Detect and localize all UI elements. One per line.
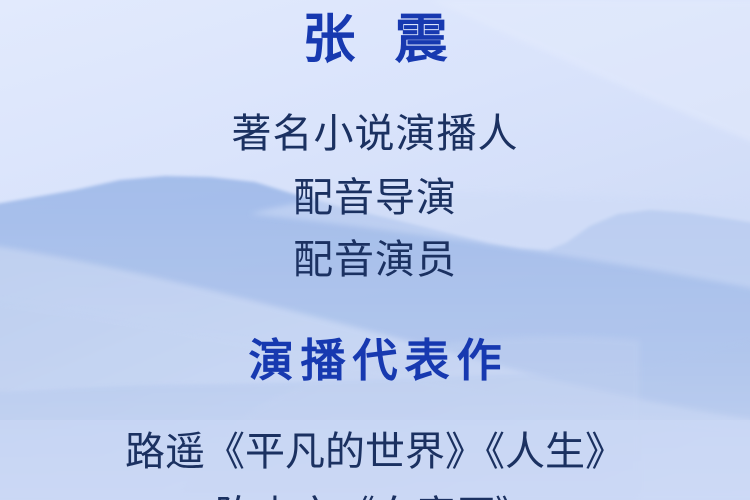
work-line-1: 路遥《平凡的世界》《人生》 [0, 428, 750, 476]
section-heading-representative-works: 演播代表作 [0, 333, 750, 389]
role-line-2: 配音导演 [0, 174, 750, 222]
role-line-1: 著名小说演播人 [0, 110, 750, 158]
text-content: 张 震 著名小说演播人 配音导演 配音演员 演播代表作 路遥《平凡的世界》《人生… [0, 0, 750, 500]
page-title: 张 震 [0, 8, 750, 72]
role-line-3: 配音演员 [0, 236, 750, 284]
poster-canvas: 张 震 著名小说演播人 配音导演 配音演员 演播代表作 路遥《平凡的世界》《人生… [0, 0, 750, 500]
work-line-2: 陈忠实《白鹿原》 [0, 492, 750, 500]
